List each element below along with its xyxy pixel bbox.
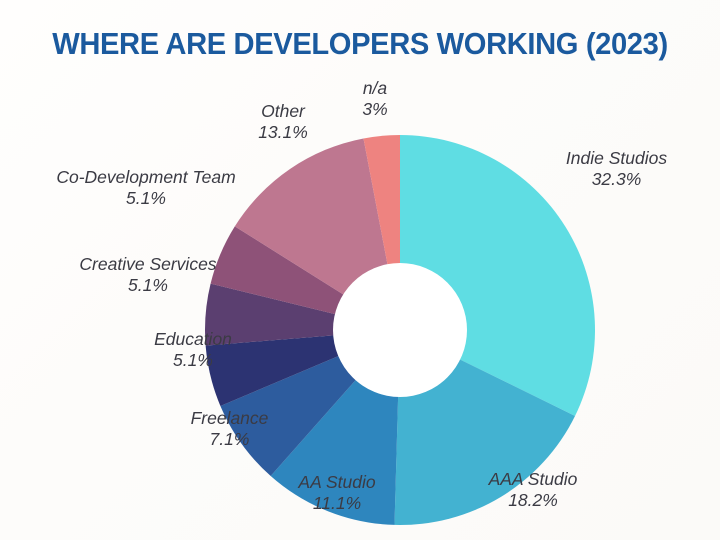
slice-label-name: n/a [330, 78, 420, 99]
slice-label-name: Education [108, 329, 278, 350]
slice-label-value: 5.1% [108, 350, 278, 371]
slice-label-aaa-studio: AAA Studio 18.2% [448, 469, 618, 510]
slice-label-name: Other [228, 101, 338, 122]
slice-label-value: 13.1% [228, 122, 338, 143]
slice-label-name: AA Studio [252, 472, 422, 493]
slice-label-name: Freelance [152, 408, 307, 429]
slice-label-creative-services: Creative Services 5.1% [48, 254, 248, 295]
slice-label-name: Indie Studios [524, 148, 709, 169]
slice-label-value: 3% [330, 99, 420, 120]
slice-label-education: Education 5.1% [108, 329, 278, 370]
slice-label-value: 7.1% [152, 429, 307, 450]
slice-label-name: Co-Development Team [26, 167, 266, 188]
slice-label-value: 11.1% [252, 493, 422, 514]
slice-label-name: AAA Studio [448, 469, 618, 490]
slice-label-freelance: Freelance 7.1% [152, 408, 307, 449]
slide-canvas: WHERE ARE DEVELOPERS WORKING (2023) Indi… [0, 0, 720, 540]
slice-label-indie-studios: Indie Studios 32.3% [524, 148, 709, 189]
slice-label-aa-studio: AA Studio 11.1% [252, 472, 422, 513]
slice-label-value: 18.2% [448, 490, 618, 511]
slice-label-co-development-team: Co-Development Team 5.1% [26, 167, 266, 208]
slice-label-value: 5.1% [48, 275, 248, 296]
slice-label-other: Other 13.1% [228, 101, 338, 142]
slice-label-value: 32.3% [524, 169, 709, 190]
slice-label-name: Creative Services [48, 254, 248, 275]
slice-label-na: n/a 3% [330, 78, 420, 119]
donut-hole [333, 263, 467, 397]
slice-label-value: 5.1% [26, 188, 266, 209]
